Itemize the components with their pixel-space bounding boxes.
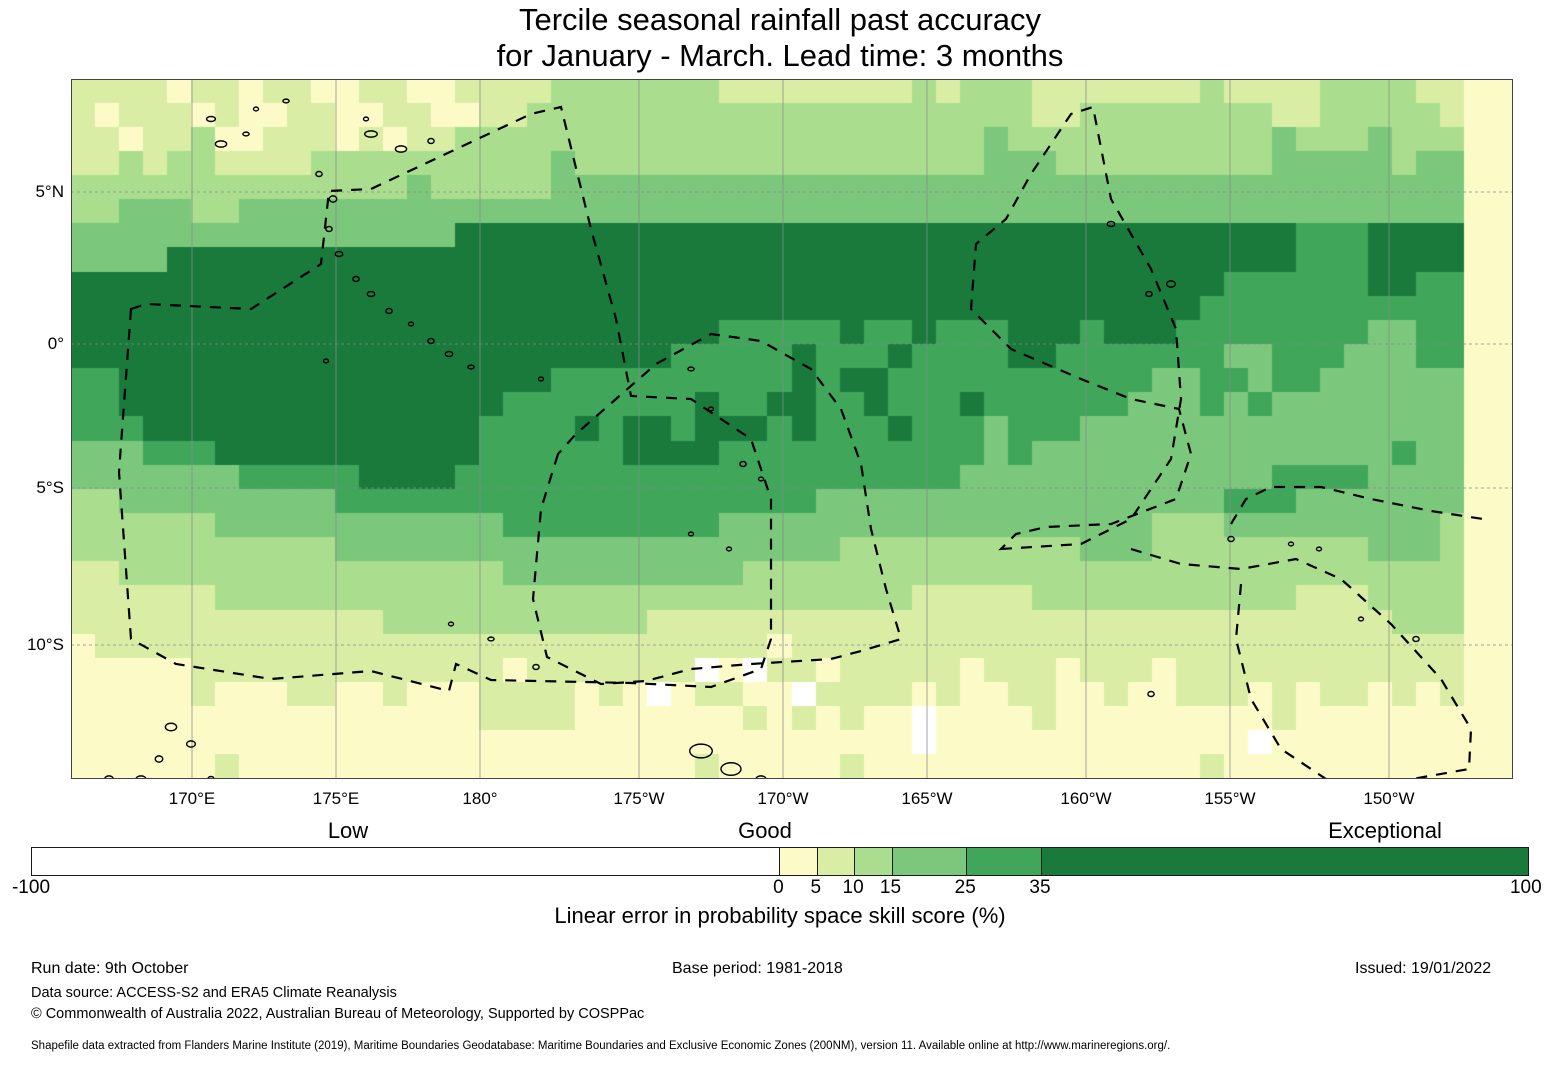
eez-boundary-overlay — [71, 79, 1513, 779]
y-axis-tick-5°S: 5°S — [4, 478, 64, 498]
map-frame — [72, 80, 1513, 779]
island-coastline-51 — [1413, 637, 1419, 642]
y-axis-tick-0°: 0° — [4, 334, 64, 354]
eez-boundary-2 — [971, 107, 1191, 549]
island-coastline-15 — [386, 309, 392, 314]
island-coastline-3 — [254, 107, 259, 111]
x-axis-tick-165°W: 165°W — [867, 789, 987, 809]
colorbar-tick--100: -100 — [0, 877, 111, 899]
colorbar[interactable] — [31, 847, 1529, 876]
island-coastline-21 — [539, 377, 544, 381]
island-coastline-11 — [326, 227, 332, 232]
island-coastline-43 — [1107, 222, 1115, 227]
x-axis-tick-175°W: 175°W — [579, 789, 699, 809]
colorbar-band-0 — [32, 848, 779, 875]
island-coastline-39 — [721, 763, 741, 776]
island-coastline-2 — [215, 141, 226, 147]
island-coastline-13 — [353, 277, 359, 282]
x-axis-tick-170°W: 170°W — [723, 789, 843, 809]
island-coastline-4 — [283, 99, 289, 103]
island-coastline-5 — [365, 131, 378, 137]
island-coastline-1 — [243, 132, 249, 136]
island-coastline-46 — [1228, 537, 1234, 542]
island-coastline-14 — [367, 292, 375, 297]
copyright-text: © Commonwealth of Australia 2022, Austra… — [31, 1006, 644, 1022]
chart-title-line2: for January - March. Lead time: 3 months — [0, 38, 1560, 74]
eez-boundary-1 — [533, 334, 901, 684]
island-coastline-19 — [468, 365, 474, 369]
island-coastline-50 — [1359, 617, 1364, 621]
island-coastline-29 — [488, 637, 494, 641]
island-coastline-49 — [1148, 692, 1154, 697]
issued-text: Issued: 19/01/2022 — [1355, 960, 1491, 978]
eez-dashed-boundaries — [119, 107, 1483, 779]
x-axis-tick-170°E: 170°E — [132, 789, 252, 809]
shapefile-attribution-text: Shapefile data extracted from Flanders M… — [31, 1040, 1170, 1052]
island-coastline-26 — [689, 532, 694, 536]
map-gridlines — [71, 79, 1513, 779]
island-coastline-8 — [364, 117, 369, 121]
island-coastline-32 — [187, 741, 196, 747]
x-axis-tick-150°W: 150°W — [1329, 789, 1449, 809]
colorbar-band-4 — [892, 848, 968, 875]
island-coastline-24 — [740, 462, 746, 467]
data-source-text: Data source: ACCESS-S2 and ERA5 Climate … — [31, 985, 397, 1001]
eez-boundary-0 — [119, 107, 771, 691]
island-coastline-9 — [316, 172, 322, 177]
island-coastline-6 — [395, 146, 406, 152]
run-date-text: Run date: 9th October — [31, 960, 188, 978]
colorbar-band-2 — [817, 848, 855, 875]
island-coastline-38 — [690, 744, 713, 758]
colorbar-band-3 — [854, 848, 892, 875]
colorbar-category-exceptional: Exceptional — [1235, 818, 1535, 844]
colorbar-category-low: Low — [198, 818, 498, 844]
x-axis-tick-175°E: 175°E — [276, 789, 396, 809]
y-axis-tick-5°N: 5°N — [4, 182, 64, 202]
island-coastline-0 — [207, 117, 216, 122]
island-coastline-31 — [165, 723, 176, 731]
island-coastline-44 — [1167, 281, 1176, 287]
island-coastline-27 — [727, 547, 732, 551]
island-coastline-30 — [533, 665, 539, 670]
chart-title-line1: Tercile seasonal rainfall past accuracy — [0, 2, 1560, 38]
island-coastline-28 — [449, 622, 454, 626]
island-coastline-45 — [1146, 292, 1152, 297]
island-coastline-16 — [409, 322, 414, 326]
island-coastline-17 — [428, 339, 434, 344]
colorbar-band-5 — [966, 848, 1042, 875]
island-coastline-33 — [155, 756, 163, 762]
x-axis-tick-180°: 180° — [420, 789, 540, 809]
x-axis-tick-155°W: 155°W — [1170, 789, 1290, 809]
island-coastline-47 — [1289, 542, 1294, 546]
island-coastline-25 — [759, 477, 764, 481]
base-period-text: Base period: 1981-2018 — [672, 960, 843, 978]
colorbar-category-good: Good — [615, 818, 915, 844]
island-coastline-18 — [445, 352, 453, 357]
eez-boundary-4 — [1231, 487, 1483, 524]
island-coastline-22 — [688, 367, 694, 371]
chart-title: Tercile seasonal rainfall past accuracy … — [0, 2, 1560, 74]
colorbar-band-6 — [1041, 848, 1528, 875]
island-coastline-20 — [324, 359, 329, 363]
island-coastline-7 — [428, 139, 434, 144]
map-plot-area[interactable] — [71, 79, 1513, 779]
x-axis-tick-160°W: 160°W — [1026, 789, 1146, 809]
colorbar-tick-35: 35 — [960, 877, 1120, 899]
y-axis-tick-10°S: 10°S — [4, 635, 64, 655]
colorbar-band-1 — [779, 848, 817, 875]
colorbar-tick-100: 100 — [1446, 877, 1560, 899]
eez-boundary-3 — [1131, 549, 1471, 779]
colorbar-axis-title: Linear error in probability space skill … — [0, 903, 1560, 929]
island-coastline-48 — [1317, 547, 1322, 551]
